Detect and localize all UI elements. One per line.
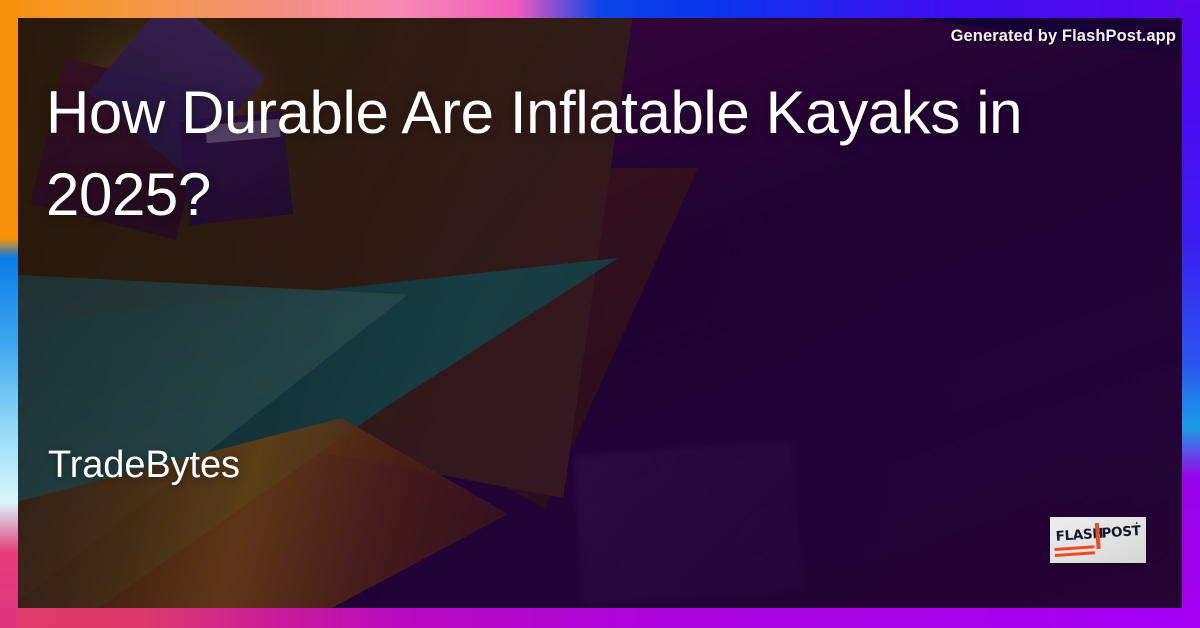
flashpost-logo-inner: FLASH POST • [1050, 517, 1146, 563]
flashpost-logo[interactable]: FLASH POST • [1050, 517, 1146, 563]
logo-trademark-icon: • [1135, 520, 1139, 527]
attribution-label: Generated by FlashPost.app [951, 27, 1176, 46]
logo-speed-line-2 [1055, 551, 1095, 556]
social-share-card: Generated by FlashPost.app How Durable A… [0, 0, 1200, 628]
card-content: Generated by FlashPost.app How Durable A… [0, 0, 1200, 628]
byline-label: TradeBytes [48, 444, 240, 487]
logo-speed-line-1 [1054, 545, 1094, 550]
page-title: How Durable Are Inflatable Kayaks in 202… [46, 72, 1036, 236]
